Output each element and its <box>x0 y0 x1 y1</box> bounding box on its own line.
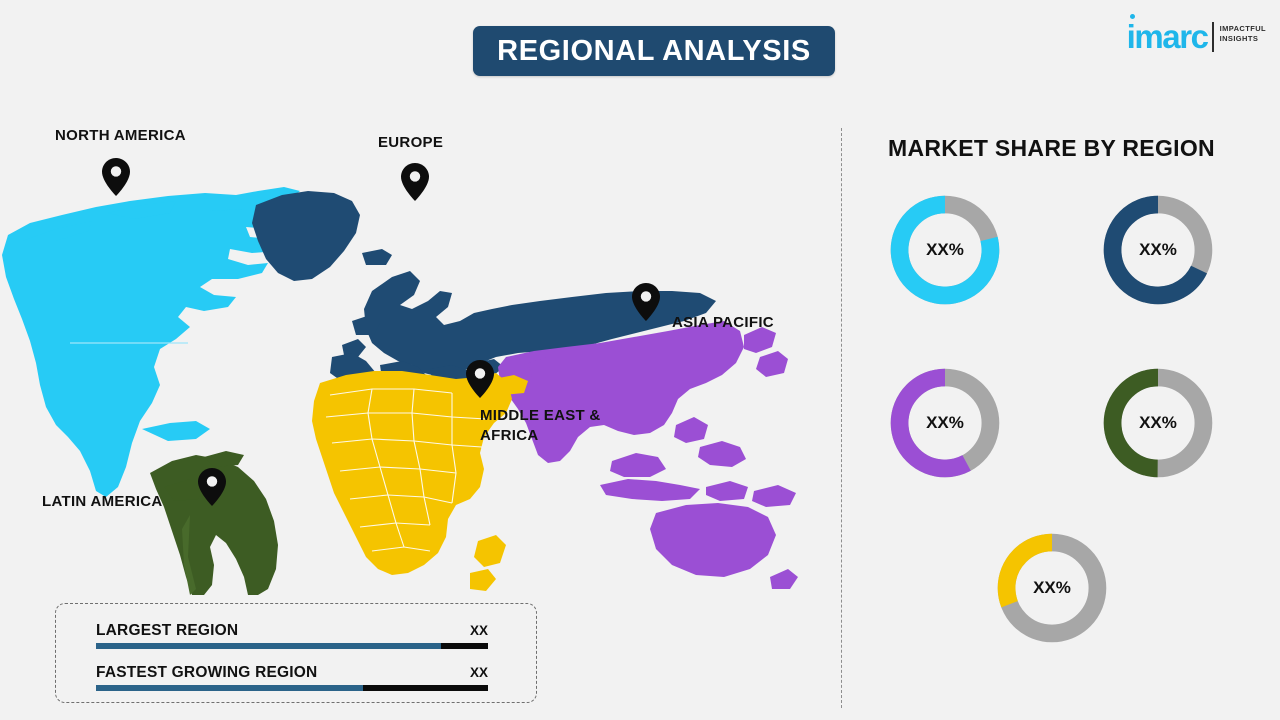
donut-chart-middle-east-africa: XX% <box>992 528 1112 648</box>
donut-chart-asia-pacific: XX% <box>885 363 1005 483</box>
legend-label-largest-region: LARGEST REGION <box>96 622 238 640</box>
logo-divider <box>1212 22 1214 52</box>
map-region-greenland <box>252 191 392 281</box>
legend-bar-fastest-growing-region <box>96 685 488 691</box>
logo-dot-icon <box>1130 14 1135 19</box>
legend-value-fastest-growing-region: XX <box>470 665 488 680</box>
map-region-middle-east-africa <box>312 371 528 591</box>
map-label-europe: EUROPE <box>378 133 443 153</box>
legend-row-fastest-growing-region: FASTEST GROWING REGION XX <box>96 664 488 691</box>
map-label-middle-east-africa: MIDDLE EAST & AFRICA <box>480 406 601 445</box>
legend-label-fastest-growing-region: FASTEST GROWING REGION <box>96 664 317 682</box>
logo-tagline-line1: IMPACTFUL <box>1220 24 1266 34</box>
donut-value-middle-east-africa: XX% <box>992 528 1112 648</box>
logo-wordmark: imarc <box>1127 20 1208 53</box>
map-region-asia-pacific <box>498 321 798 589</box>
page-title-banner: REGIONAL ANALYSIS <box>473 26 835 76</box>
legend-bar-largest-region <box>96 643 488 649</box>
donut-chart-north-america: XX% <box>885 190 1005 310</box>
donut-value-north-america: XX% <box>885 190 1005 310</box>
map-label-latin-america: LATIN AMERICA <box>42 492 163 512</box>
page-title: REGIONAL ANALYSIS <box>497 35 811 68</box>
map-pin-latin-america-icon[interactable] <box>198 468 226 506</box>
logo-tagline: IMPACTFUL INSIGHTS <box>1220 24 1266 44</box>
donut-chart-europe: XX% <box>1098 190 1218 310</box>
donut-value-latin-america: XX% <box>1098 363 1218 483</box>
legend-row-largest-region: LARGEST REGION XX <box>96 622 488 649</box>
logo-word-text: imarc <box>1127 18 1208 55</box>
map-pin-north-america-icon[interactable] <box>102 158 130 196</box>
map-label-north-america: NORTH AMERICA <box>55 126 186 146</box>
vertical-dashed-divider <box>841 128 842 708</box>
donut-value-asia-pacific: XX% <box>885 363 1005 483</box>
map-pin-europe-icon[interactable] <box>401 163 429 201</box>
infographic-canvas: REGIONAL ANALYSIS imarc IMPACTFUL INSIGH… <box>0 0 1280 720</box>
market-share-panel-title: MARKET SHARE BY REGION <box>888 135 1215 162</box>
donut-chart-latin-america: XX% <box>1098 363 1218 483</box>
map-pin-asia-pacific-icon[interactable] <box>632 283 660 321</box>
legend-value-largest-region: XX <box>470 623 488 638</box>
region-summary-box: LARGEST REGION XX FASTEST GROWING REGION… <box>55 603 537 703</box>
donut-value-europe: XX% <box>1098 190 1218 310</box>
logo-tagline-line2: INSIGHTS <box>1220 34 1266 44</box>
map-label-asia-pacific: ASIA PACIFIC <box>672 313 774 333</box>
imarc-logo: imarc IMPACTFUL INSIGHTS <box>1127 20 1266 53</box>
map-pin-middle-east-africa-icon[interactable] <box>466 360 494 398</box>
